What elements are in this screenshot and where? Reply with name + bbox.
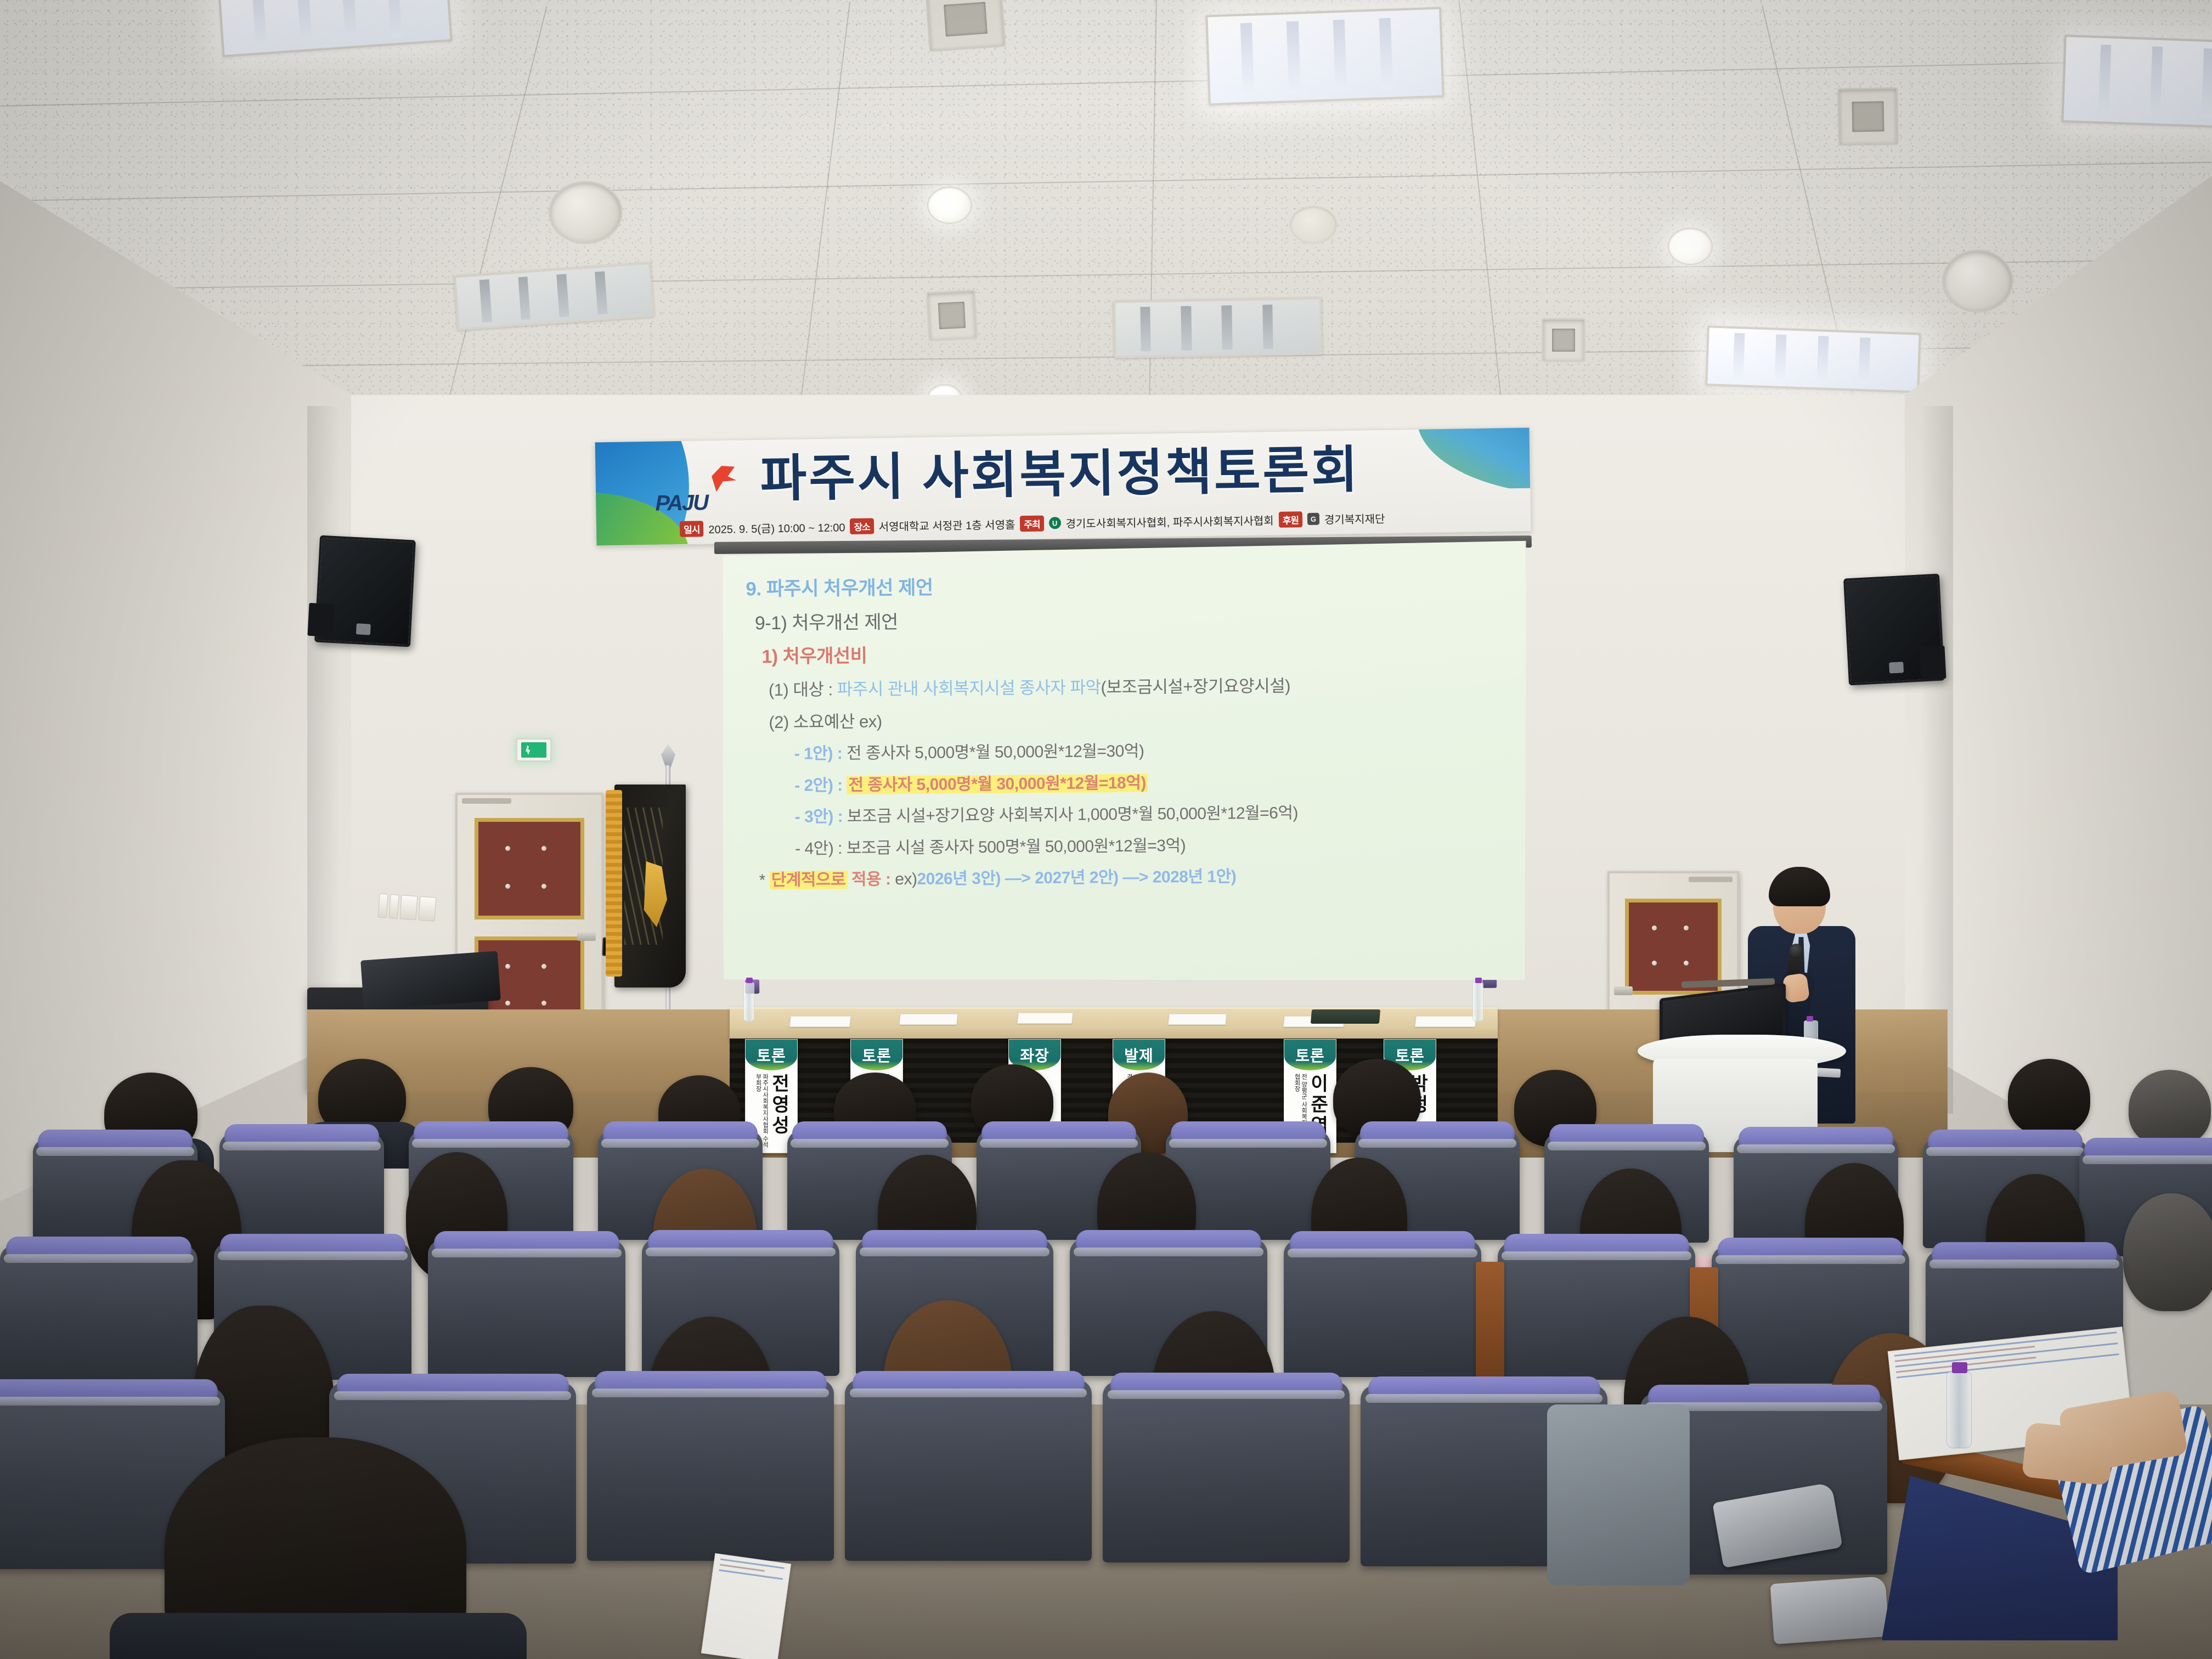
- ceiling-light-troffer: [2061, 35, 2212, 130]
- ceiling-downlight: [1668, 228, 1713, 265]
- ceiling-speaker: [549, 181, 623, 244]
- seat-trim: [791, 1139, 949, 1148]
- speaker-bracket-right: [1919, 646, 1946, 680]
- exit-running-man-icon: [521, 742, 546, 758]
- stage-monitor: [360, 951, 501, 1009]
- door-closer-right: [1689, 877, 1733, 882]
- seat-trim: [1358, 1139, 1516, 1148]
- ceiling-light-troffer: [1113, 297, 1323, 359]
- banner-date-value: 2025. 9. 5(금) 10:00 ~ 12:00: [708, 518, 845, 537]
- option-3-text: 보조금 시설+장기요양 사회복지사 1,000명*월 50,000원*12월=6…: [847, 804, 1298, 826]
- slide-option-3: - 3안) : 보조금 시설+장기요양 사회복지사 1,000명*월 50,00…: [795, 803, 1514, 826]
- placard-role-label: 토론: [862, 1044, 891, 1066]
- light-switch[interactable]: [389, 894, 399, 919]
- seat-trim: [36, 1147, 194, 1156]
- av-lectern[interactable]: [1638, 982, 1846, 1147]
- attendee-water-bottle: [1946, 1372, 1972, 1448]
- placard-role-banner: 토론: [746, 1040, 797, 1070]
- auditorium-seat[interactable]: [1103, 1381, 1350, 1562]
- slide-footnote: * 단계적으로 적용 : ex)2026년 3안) —> 2027년 2안) —…: [759, 866, 1514, 889]
- auditorium-seat[interactable]: [219, 1133, 384, 1243]
- footnote-mid: 적용 :: [847, 871, 895, 889]
- seat-trim: [646, 1248, 836, 1256]
- presenter-hair: [1769, 867, 1830, 906]
- slide-heading: 9. 파주시 처우개선 제언: [746, 573, 1511, 600]
- placard-role-label: 토론: [1395, 1044, 1425, 1066]
- audience-head: [2129, 1070, 2211, 1147]
- slide-option-4: - 4안) : 보조금 시설 종사자 500명*월 50,000원*12월=3억…: [795, 834, 1514, 857]
- ceiling-vent: [1837, 87, 1899, 146]
- option-4-label: - 4안) :: [795, 839, 847, 858]
- paju-flame-icon: [710, 464, 737, 492]
- auditorium-seat[interactable]: [1284, 1240, 1481, 1377]
- option-1-text: 전 종사자 5,000명*월 50,000원*12월=30억): [847, 742, 1144, 763]
- auditorium-seat[interactable]: [845, 1380, 1092, 1561]
- ceiling-light-troffer: [1705, 325, 1921, 393]
- light-switch[interactable]: [399, 895, 417, 920]
- slide-target-tail: (보조금시설+장기요양시설): [1101, 676, 1290, 697]
- audience-head: [2008, 1059, 2090, 1136]
- table-water-bottle: [1472, 982, 1483, 1022]
- seat-trim: [1108, 1390, 1345, 1399]
- ceiling-light-troffer: [1205, 7, 1444, 106]
- attendee-hand: [2022, 1422, 2115, 1486]
- banner-title: 파주시 사회복지정책토론회: [760, 442, 1506, 504]
- option-2-label: - 2안) :: [794, 776, 847, 795]
- auditorium-seat[interactable]: [428, 1240, 625, 1377]
- light-switch[interactable]: [378, 893, 388, 918]
- ceiling-vent: [925, 0, 1006, 52]
- host-org-icon: U: [1048, 517, 1060, 529]
- exit-sign: [516, 738, 552, 762]
- seat-trim: [980, 1139, 1138, 1148]
- audience-shoulder-foreground: [110, 1613, 527, 1659]
- seat-trim: [1926, 1147, 2084, 1156]
- placard-role-label: 좌장: [1020, 1044, 1049, 1066]
- table-document: [1168, 1014, 1227, 1025]
- footnote-ex: ex): [895, 870, 917, 888]
- slide-content: 9. 파주시 처우개선 제언 9-1) 처우개선 제언 1) 처우개선비 (1)…: [720, 540, 1530, 991]
- table-document: [1415, 1016, 1476, 1027]
- slide-option-1: - 1안) : 전 종사자 5,000명*월 50,000원*12월=30억): [794, 740, 1513, 763]
- seat-trim: [334, 1391, 571, 1400]
- paju-logo: PAJU: [654, 469, 754, 517]
- door-handle-right[interactable]: [1614, 986, 1633, 995]
- slide-target-emphasis: 파주시 관내 사회복지시설 종사자 파악: [837, 678, 1101, 699]
- auditorium-seat[interactable]: [587, 1380, 834, 1561]
- door-panel-upper-left: [475, 818, 584, 919]
- booklet-line: [719, 1569, 783, 1579]
- attendee-shoe: [1770, 1576, 1889, 1644]
- seat-trim: [218, 1251, 408, 1260]
- placard-role-label: 토론: [757, 1044, 786, 1066]
- seat-trim: [0, 1397, 220, 1406]
- ceiling: [0, 0, 2212, 433]
- ceiling-vent: [926, 290, 978, 342]
- ceiling-downlight: [1289, 206, 1338, 244]
- ceiling-downlight: [927, 187, 972, 224]
- seat-trim: [1365, 1394, 1602, 1403]
- seat-trim: [223, 1142, 381, 1150]
- table-water-bottle: [743, 982, 754, 1022]
- seat-trim: [1169, 1139, 1327, 1148]
- seat-trim: [1929, 1260, 2119, 1268]
- paju-wordmark: PAJU: [655, 490, 708, 516]
- seat-trim: [1737, 1144, 1895, 1153]
- table-document: [789, 1016, 851, 1027]
- footnote-steps: 2026년 3안) —> 2027년 2안) —> 2028년 1안): [917, 868, 1236, 889]
- seat-trim: [432, 1249, 622, 1257]
- option-3-label: - 3안) :: [795, 808, 848, 826]
- projection-screen: 9. 파주시 처우개선 제언 9-1) 처우개선 제언 1) 처우개선비 (1)…: [720, 540, 1530, 991]
- ceiling-speaker: [1942, 250, 2013, 313]
- banner-tag-sponsor: 후원: [1278, 511, 1302, 528]
- seat-trim: [412, 1139, 570, 1148]
- placard-role-banner: 발제: [1113, 1040, 1165, 1070]
- banner-tag-date: 일시: [680, 521, 704, 537]
- event-banner: PAJU 파주시 사회복지정책토론회 일시 2025. 9. 5(금) 10:0…: [595, 427, 1532, 546]
- seat-trim: [860, 1248, 1049, 1256]
- slide-budget-label: (2) 소요예산 ex): [769, 708, 1513, 731]
- seat-trim: [601, 1139, 759, 1148]
- option-1-label: - 1안) :: [794, 744, 847, 763]
- footnote-star: *: [759, 871, 769, 889]
- light-switch-panel[interactable]: [378, 893, 437, 921]
- slide-subheading: 9-1) 처우개선 제언: [755, 608, 1512, 634]
- slide-target-line: (1) 대상 : 파주시 관내 사회복지시설 종사자 파악(보조금시설+장기요양…: [769, 676, 1513, 699]
- banner-sponsor-value: 경기복지재단: [1324, 510, 1385, 527]
- ceiling-vent: [1542, 318, 1585, 362]
- attendee-bag: [1547, 1404, 1690, 1585]
- placard-name: 전영성: [770, 1074, 788, 1153]
- auditorium-photo: PAJU 파주시 사회복지정책토론회 일시 2025. 9. 5(금) 10:0…: [0, 0, 2212, 1659]
- seat-armrest: [1476, 1262, 1504, 1377]
- banner-host-value: 경기도사회복지사협회, 파주시사회복지사협회: [1065, 511, 1274, 531]
- sponsor-org-icon: G: [1307, 513, 1319, 525]
- placard-role-banner: 토론: [851, 1040, 902, 1070]
- table-document: [899, 1014, 958, 1025]
- seat-trim: [850, 1389, 1087, 1397]
- seat-trim: [4, 1254, 194, 1263]
- footnote-highlight: 단계적으로: [770, 871, 848, 889]
- banner-tag-host: 주최: [1020, 515, 1044, 532]
- banner-place-value: 서영대학교 서정관 1층 서영홀: [879, 516, 1015, 534]
- seat-trim: [2083, 1155, 2212, 1164]
- seat-trim: [1548, 1142, 1706, 1150]
- placard-role-label: 발제: [1124, 1044, 1154, 1066]
- door-closer-left: [462, 798, 511, 804]
- seat-trim: [1074, 1248, 1263, 1256]
- door-handle-left[interactable]: [577, 932, 596, 941]
- placard-role-banner: 토론: [1284, 1040, 1336, 1070]
- flag-fringe-left: [606, 790, 622, 977]
- slide-option-2: - 2안) : 전 종사자 5,000명*월 30,000원*12월=18억): [794, 771, 1513, 794]
- audience-head: [2123, 1193, 2212, 1311]
- wall-corner-shadow: [1920, 406, 1953, 1114]
- banner-tag-place: 장소: [850, 518, 874, 534]
- seat-trim: [1502, 1251, 1691, 1260]
- option-4-text: 보조금 시설 종사자 500명*월 50,000원*12월=3억): [847, 837, 1186, 857]
- seat-trim: [1716, 1255, 1905, 1264]
- speaker-bracket-left: [307, 603, 334, 637]
- slide-item-1: 1) 처우개선비: [761, 642, 1512, 667]
- placard-role-label: 토론: [1295, 1044, 1325, 1066]
- auditorium-seat[interactable]: [0, 1245, 198, 1383]
- table-folder: [1311, 1009, 1380, 1024]
- option-2-text: 전 종사자 5,000명*월 30,000원*12월=18억): [847, 774, 1148, 794]
- table-document: [1017, 1013, 1073, 1024]
- light-switch[interactable]: [418, 896, 436, 922]
- seat-trim: [1288, 1249, 1477, 1257]
- seat-trim: [592, 1389, 829, 1397]
- slide-target-label: (1) 대상 :: [769, 680, 837, 699]
- handout-booklet: [701, 1553, 791, 1659]
